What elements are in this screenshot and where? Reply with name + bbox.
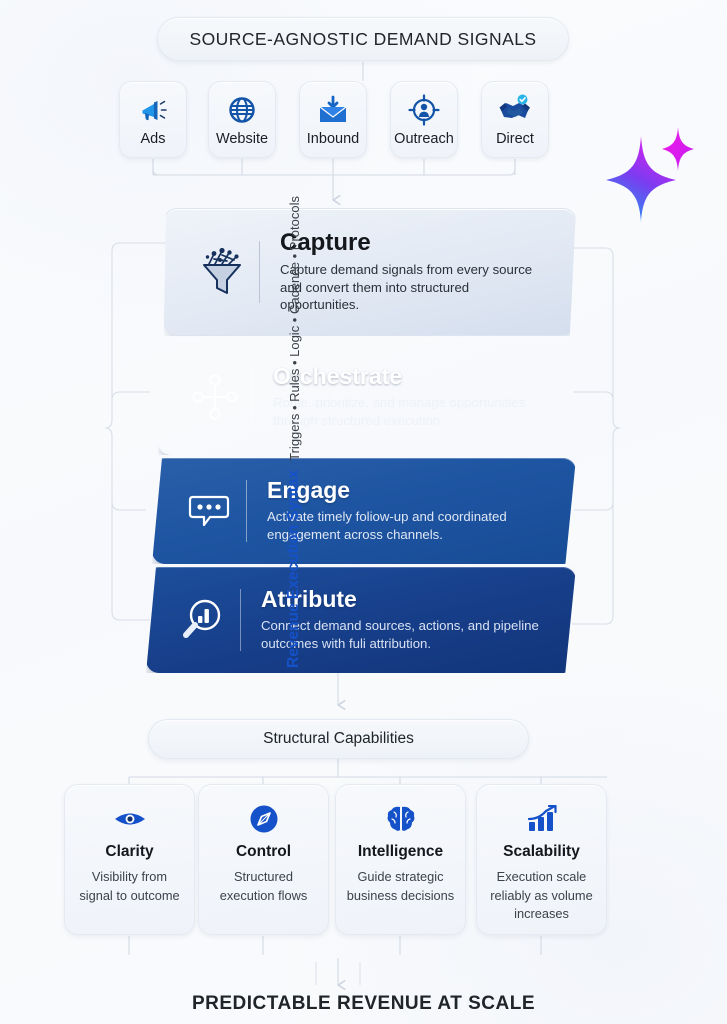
brain-icon [385,803,417,835]
structural-capabilities-label: Structural Capabilities [263,730,414,748]
layer-title: Orchestrate [273,364,548,388]
layer-divider [240,589,241,651]
capability-cards-row: Clarity Visibility from signal to outcom… [0,784,727,936]
capability-description: Visibility from signal to outcome [65,868,194,905]
globe-icon [226,92,258,128]
capability-card-clarity[interactable]: Clarity Visibility from signal to outcom… [64,784,195,935]
capability-description: Guide strategic business decisions [336,868,465,905]
inbound-email-icon [316,92,350,128]
structural-capabilities-pill: Structural Capabilities [148,719,529,759]
funnel-layer-attribute[interactable]: Attribute Connect demand sources, action… [146,567,576,673]
capability-description: Execution scale reliably as volume incre… [477,868,606,924]
side-label-left: Revenue Execution Syntax Triggers • Rule… [58,232,104,632]
layer-divider [259,241,260,303]
funnel-signals-icon [191,244,253,300]
layer-description: Activate timely foliow-up and coordinate… [267,508,548,543]
capability-title: Scalability [503,843,580,861]
layer-title: Capture [280,230,547,255]
source-label: Direct [496,131,534,147]
footer-title: PREDICTABLE REVENUE AT SCALE [0,993,727,1015]
funnel-layer-orchestrate[interactable]: Orchestrate Route, prioritize, and manag… [158,339,576,455]
capability-title: Clarity [105,843,153,861]
eye-icon [113,803,147,835]
source-agnostic-banner: SOURCE-AGNOSTIC DEMAND SIGNALS [157,17,569,61]
capability-card-control[interactable]: Control Structured execution flows [198,784,329,935]
capability-title: Control [236,843,291,861]
side-label-left-title: Revenue Execution Syntax [285,470,303,668]
capability-card-scalability[interactable]: Scalability Execution scale reliably as … [476,784,607,935]
source-card-outreach[interactable]: Outreach [390,81,458,158]
compass-icon [249,803,279,835]
megaphone-icon [136,92,170,128]
growth-chart-icon [526,803,558,835]
funnel-layer-engage[interactable]: Engage Activate timely foliow-up and coo… [152,458,576,564]
capability-description: Structured execution flows [199,868,328,905]
source-label: Outreach [394,131,454,147]
source-label: Inbound [307,131,359,147]
diagram-canvas: SOURCE-AGNOSTIC DEMAND SIGNALS Ads [0,0,727,1024]
source-label: Ads [141,131,166,147]
banner-label: SOURCE-AGNOSTIC DEMAND SIGNALS [189,29,536,50]
source-card-website[interactable]: Website [208,81,276,158]
capability-title: Intelligence [358,843,443,861]
target-person-icon [407,92,441,128]
source-card-inbound[interactable]: Inbound [299,81,367,158]
layer-divider [246,480,247,542]
side-label-left-subtitle: Triggers • Rules • Logic • Cadence • Pro… [286,196,301,461]
capability-card-intelligence[interactable]: Intelligence Guide strategic business de… [335,784,466,935]
chat-bubble-icon [178,487,240,535]
layer-title: Attribute [261,587,548,611]
side-label-right: Qualify • Engage • Data Analysis • CRM U… [622,248,668,648]
layer-description: Capture demand signals from every source… [280,261,547,314]
layer-description: Route, prioritize, and manage opportunit… [273,394,548,429]
layer-description: Connect demand sources, actions, and pip… [261,617,548,652]
node-network-icon [184,371,246,423]
layer-title: Engage [267,478,548,502]
funnel-layer-capture[interactable]: Capture Capture demand signals from ever… [164,208,576,336]
sparkle-icon [598,122,698,226]
source-card-direct[interactable]: Direct [481,81,549,158]
magnifier-chart-icon [172,595,234,645]
source-label: Website [216,131,268,147]
handshake-verified-icon [497,92,533,128]
layer-divider [252,366,253,428]
source-card-ads[interactable]: Ads [119,81,187,158]
